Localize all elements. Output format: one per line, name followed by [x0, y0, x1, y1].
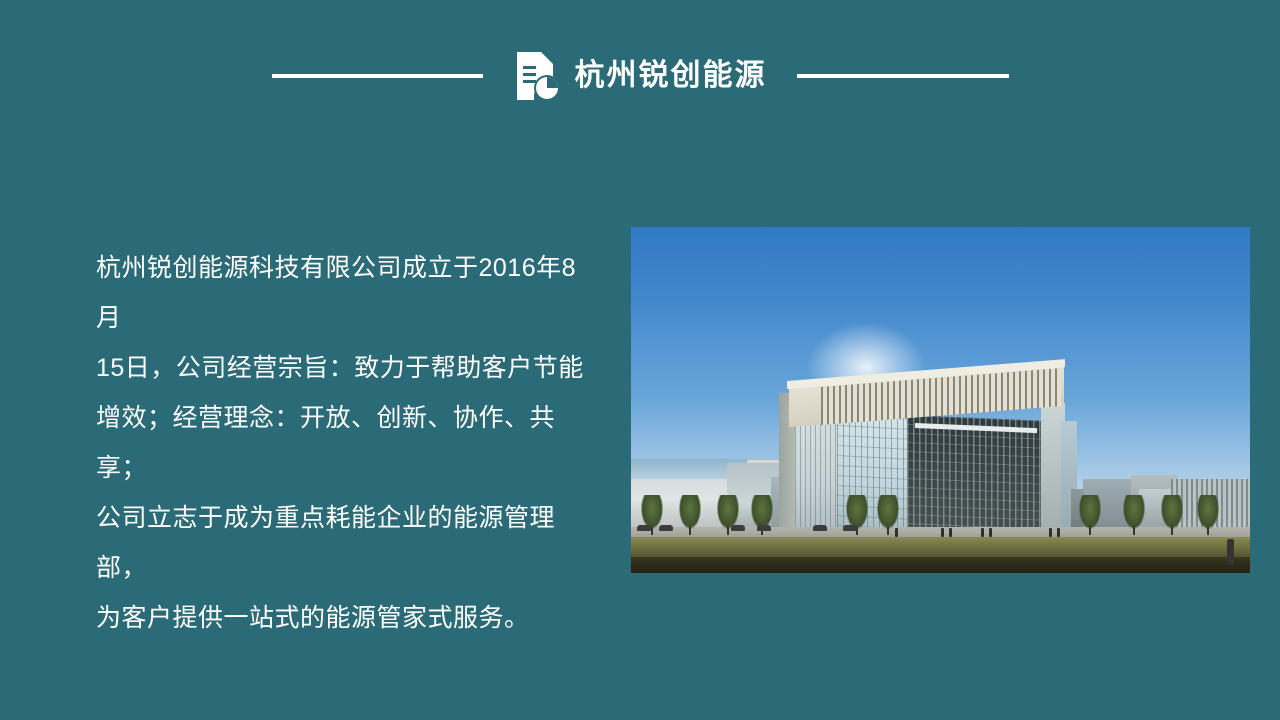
tree [846, 495, 868, 529]
page-title: 杭州锐创能源 [575, 61, 767, 91]
tree [1161, 495, 1183, 529]
description-line: 杭州锐创能源科技有限公司成立于2016年8月 [96, 243, 596, 343]
brand-block: 杭州锐创能源 [513, 50, 767, 102]
slide-root: 杭州锐创能源 杭州锐创能源科技有限公司成立于2016年8月 15日，公司经营宗旨… [0, 0, 1280, 720]
pedestrian [989, 528, 992, 537]
description-line: 公司立志于成为重点耗能企业的能源管理部， [96, 493, 596, 593]
pedestrian [1057, 528, 1060, 537]
pedestrian [981, 528, 984, 537]
parked-car [813, 525, 827, 531]
tree [1079, 495, 1101, 529]
header-rule-right [797, 74, 1009, 78]
parked-car [731, 525, 745, 531]
parked-car [843, 525, 857, 531]
company-description: 杭州锐创能源科技有限公司成立于2016年8月 15日，公司经营宗旨：致力于帮助客… [96, 243, 596, 643]
foreground-strip [631, 557, 1250, 573]
tree [1197, 495, 1219, 529]
pedestrian [949, 528, 952, 537]
parked-car [637, 525, 651, 531]
pedestrian [895, 528, 898, 537]
parked-car [659, 525, 673, 531]
tree [717, 495, 739, 529]
pedestrian [941, 528, 944, 537]
header-rule-left [272, 74, 483, 78]
foreground-pedestrian [1227, 539, 1234, 565]
tree [679, 495, 701, 529]
pedestrian [1049, 528, 1052, 537]
parked-car [757, 525, 771, 531]
description-line: 15日，公司经营宗旨：致力于帮助客户节能 [96, 343, 596, 393]
description-line: 为客户提供一站式的能源管家式服务。 [96, 593, 596, 643]
office-building-rendering [631, 227, 1250, 573]
description-line: 增效；经营理念：开放、创新、协作、共享； [96, 393, 596, 493]
tree [1123, 495, 1145, 529]
tree [751, 495, 773, 529]
tree [641, 495, 663, 529]
slide-header: 杭州锐创能源 [0, 46, 1280, 106]
tree [877, 495, 899, 529]
document-chart-icon [513, 50, 561, 102]
main-tower [779, 337, 1069, 537]
